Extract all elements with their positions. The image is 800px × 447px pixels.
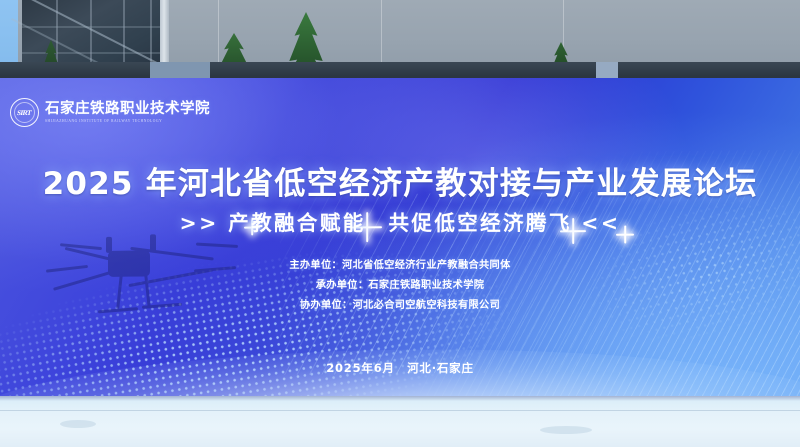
banner-main-title: 2025 年河北省低空经济产教对接与产业发展论坛 — [0, 158, 800, 203]
institution-logo: SIRT 石家庄铁路职业技术学院 SHIJIAZHUANG INSTITUTE … — [10, 98, 210, 127]
floor — [0, 396, 800, 447]
floor-shadow — [0, 396, 800, 401]
organizer-line-host: 主办单位：河北省低空经济行业产教融合共同体 — [0, 256, 800, 276]
organizer-line-organizer: 承办单位：石家庄铁路职业技术学院 — [0, 276, 800, 296]
organizer-line-coorganizer: 协办单位：河北必合司空航空科技有限公司 — [0, 296, 800, 316]
logo-name-en: SHIJIAZHUANG INSTITUTE OF RAILWAY TECHNO… — [45, 119, 210, 123]
banner-subtitle: >> 产教融合赋能 共促低空经济腾飞 << — [0, 206, 800, 236]
banner-footer-date-location: 2025年6月 河北·石家庄 — [0, 360, 800, 376]
screenshot-scene: SIRT 石家庄铁路职业技术学院 SHIJIAZHUANG INSTITUTE … — [0, 0, 800, 447]
floor-seam — [0, 410, 800, 411]
logo-name-cn: 石家庄铁路职业技术学院 — [45, 102, 210, 117]
floor-blemish — [60, 420, 96, 428]
organizer-block: 主办单位：河北省低空经济行业产教融合共同体 承办单位：石家庄铁路职业技术学院 协… — [0, 256, 800, 316]
floor-blemish — [540, 426, 592, 434]
logo-seal-icon: SIRT — [10, 98, 39, 127]
event-banner: SIRT 石家庄铁路职业技术学院 SHIJIAZHUANG INSTITUTE … — [0, 78, 800, 398]
logo-seal-mark: SIRT — [17, 109, 33, 117]
